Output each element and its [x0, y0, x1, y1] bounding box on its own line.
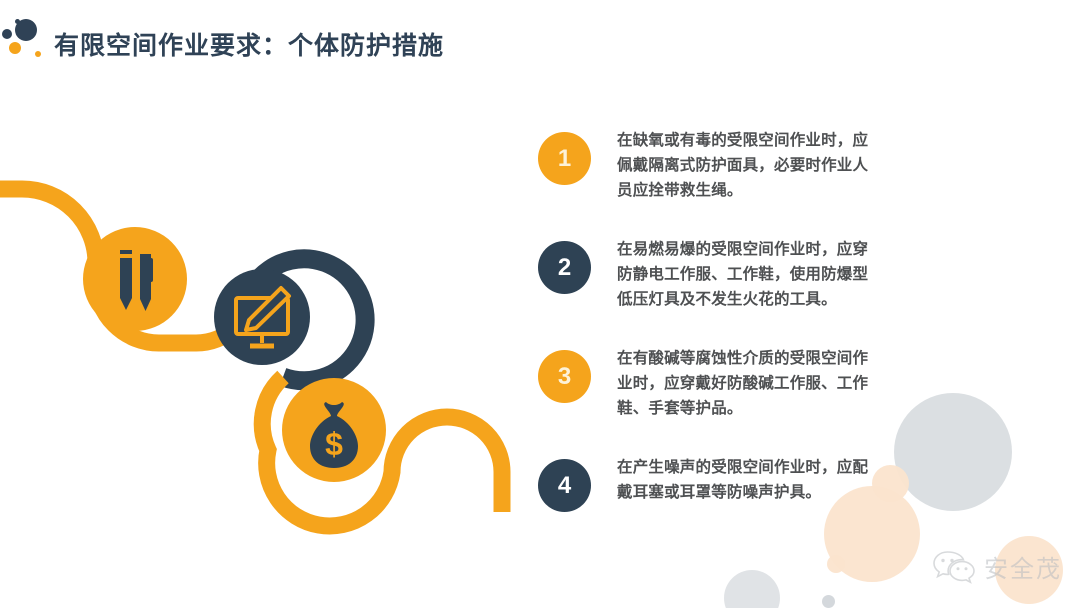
dot-orange-medium — [9, 42, 21, 54]
dot-navy-small — [2, 29, 12, 39]
protection-measures-list: 1 在缺氧或有毒的受限空间作业时，应佩戴隔离式防护面具，必要时作业人员应拴带救生… — [538, 128, 938, 512]
node-1-circle — [83, 227, 187, 331]
money-bag-dollar-sign: $ — [325, 426, 343, 462]
watermark-label: 安全茂 — [984, 549, 1062, 584]
list-item: 4 在产生噪声的受限空间作业时，应配戴耳塞或耳罩等防噪声护具。 — [538, 455, 938, 512]
point-text-1: 在缺氧或有毒的受限空间作业时，应佩戴隔离式防护面具，必要时作业人员应拴带救生绳。 — [617, 128, 879, 203]
decorative-dot-cluster — [4, 18, 52, 66]
list-item: 3 在有酸碱等腐蚀性介质的受限空间作业时，应穿戴好防酸碱工作服、工作鞋、手套等护… — [538, 346, 938, 421]
point-badge-2: 2 — [538, 241, 591, 294]
list-item: 2 在易燃易爆的受限空间作业时，应穿防静电工作服、工作鞋，使用防爆型低压灯具及不… — [538, 237, 938, 312]
wechat-icon — [932, 550, 976, 584]
bubble-peach-small — [827, 555, 845, 573]
dot-navy-tiny — [15, 19, 20, 24]
bubble-gray-dot — [822, 595, 835, 608]
slide-canvas: 有限空间作业要求：个体防护措施 — [0, 0, 1080, 608]
point-text-3: 在有酸碱等腐蚀性介质的受限空间作业时，应穿戴好防酸碱工作服、工作鞋、手套等护品。 — [617, 346, 879, 421]
point-text-2: 在易燃易爆的受限空间作业时，应穿防静电工作服、工作鞋，使用防爆型低压灯具及不发生… — [617, 237, 879, 312]
slide-header: 有限空间作业要求：个体防护措施 — [0, 0, 1080, 92]
point-badge-1: 1 — [538, 132, 591, 185]
page-title: 有限空间作业要求：个体防护措施 — [54, 26, 444, 62]
list-item: 1 在缺氧或有毒的受限空间作业时，应佩戴隔离式防护面具，必要时作业人员应拴带救生… — [538, 128, 938, 203]
point-badge-3: 3 — [538, 350, 591, 403]
bubble-gray-left — [724, 570, 780, 608]
point-text-4: 在产生噪声的受限空间作业时，应配戴耳塞或耳罩等防噪声护具。 — [617, 455, 879, 505]
point-badge-4: 4 — [538, 459, 591, 512]
watermark: 安全茂 — [932, 549, 1062, 584]
process-infographic: $ — [0, 150, 530, 540]
dot-orange-tiny — [35, 51, 41, 57]
